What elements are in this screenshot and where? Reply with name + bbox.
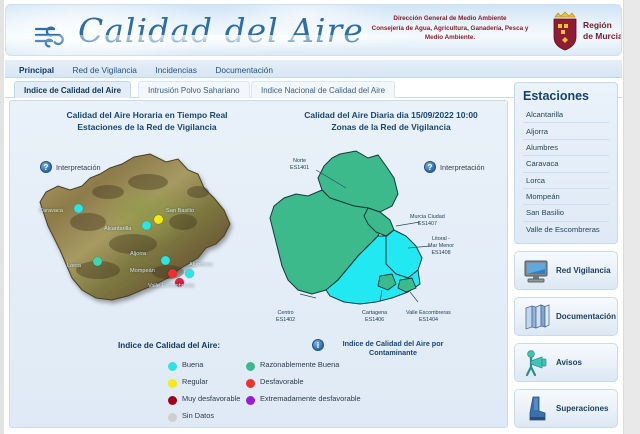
sidebar: Estaciones Alcantarilla Aljorra Alumbres…	[514, 82, 618, 428]
sidebar-button-red-vigilancia[interactable]: Red Vigilancia	[514, 251, 618, 290]
zone-label-litoral-line-2: Mar Menor	[428, 243, 454, 249]
legend-label-razonablemente-buena: Razonablemente Buena	[260, 361, 339, 370]
tab-indice-calidad-aire[interactable]: Indice de Calidad del Aire	[14, 81, 131, 98]
info-icon: i	[312, 339, 324, 351]
sidebar-button-label-superaciones: Superaciones	[556, 404, 608, 414]
sidebar-button-label-avisos: Avisos	[556, 358, 582, 368]
legend-swatch-regular	[168, 379, 177, 388]
zone-label-valle-name: Valle Escombreras	[406, 310, 451, 316]
station-dot-caravaca[interactable]	[74, 204, 83, 213]
murcia-coat-of-arms-icon	[549, 11, 581, 52]
sidebar-item-mompean[interactable]: Mompeán	[523, 189, 609, 205]
region-crest-line-2: de Murcia	[583, 31, 622, 42]
legend-label-desfavorable: Desfavorable	[260, 378, 304, 387]
nav-item-red-de-vigilancia[interactable]: Red de Vigilancia	[73, 60, 137, 75]
legend-item-buena: Buena	[168, 361, 246, 371]
zone-label-litoral-code: ES1408	[431, 250, 450, 256]
murcia-zones-map[interactable]: Norte ES1401 Murcia Ciudad ES1407 Litora…	[268, 150, 483, 330]
station-label-valle-escombreras: Valle Escombreras	[148, 283, 195, 289]
station-dot-lorca[interactable]	[93, 257, 102, 266]
tab-intrusion-polvo-sahariano[interactable]: Intrusión Polvo Sahariano	[138, 81, 250, 98]
sidebar-item-valle-de-escombreras[interactable]: Valle de Escombreras	[523, 222, 609, 237]
zone-label-cartagena: Cartagena ES1406	[362, 310, 387, 324]
terrain-map-shape	[38, 152, 268, 327]
left-map-title: Calidad del Aire Horaria en Tiempo Real …	[22, 109, 272, 133]
station-dot-alumbres[interactable]	[185, 269, 194, 278]
zone-label-valle-escombreras: Valle Escombreras ES1404	[406, 310, 451, 324]
legend-swatch-buena	[168, 362, 177, 371]
sidebar-button-label-documentacion: Documentación	[556, 312, 616, 322]
legend-label-regular: Regular	[182, 378, 208, 387]
zone-label-centro-code: ES1402	[276, 317, 295, 323]
zone-label-murcia-code: ES1407	[418, 221, 437, 227]
region-crest-text: Región de Murcia	[583, 20, 622, 42]
sidebar-button-documentacion[interactable]: Documentación	[514, 297, 618, 336]
zone-label-centro-name: Centro	[278, 310, 294, 316]
station-label-alumbres: Alumbres	[189, 262, 213, 268]
legend-swatch-razonablemente-buena	[246, 362, 255, 371]
department-line-1: Dirección General de Medio Ambiente	[362, 14, 538, 24]
right-map-title-line-2: Zonas de la Red de Vigilancia	[276, 121, 506, 133]
department-line-2: Consejería de Agua, Agricultura, Ganader…	[362, 24, 538, 34]
sidebar-button-superaciones[interactable]: Superaciones	[514, 389, 618, 428]
left-map-title-line-2: Estaciones de la Red de Vigilancia	[22, 121, 272, 133]
monitor-icon	[518, 255, 556, 287]
right-map-title-line-1: Calidad del Aire Diaria dia 15/09/2022 1…	[276, 109, 506, 121]
legend-item-regular: Regular	[168, 378, 246, 388]
legend-swatch-muy-desfavorable	[168, 396, 177, 405]
page-title: Calidad del Aire	[78, 11, 364, 50]
zone-label-litoral-mar-menor: Litoral - Mar Menor ES1408	[428, 236, 454, 257]
legend-item-desfavorable: Desfavorable	[246, 378, 406, 388]
murcia-terrain-station-map[interactable]: Caravaca Alcantarilla San Basilio Lorca …	[38, 152, 268, 327]
legend-label-sin-datos: Sin Datos	[182, 412, 214, 421]
main-navigation[interactable]: Principal Red de Vigilancia Incidencias …	[5, 60, 622, 78]
zone-label-litoral-line-1: Litoral -	[432, 236, 450, 242]
wind-icon	[32, 19, 74, 51]
station-dot-san-basilio[interactable]	[154, 215, 163, 224]
zone-label-centro: Centro ES1402	[276, 310, 295, 324]
sidebar-button-avisos[interactable]: Avisos	[514, 343, 618, 382]
sidebar-stations-heading: Estaciones	[523, 89, 609, 103]
zone-label-cartagena-name: Cartagena	[362, 310, 387, 316]
zone-label-murcia-ciudad: Murcia Ciudad ES1407	[410, 214, 445, 228]
zone-label-valle-code: ES1404	[419, 317, 438, 323]
books-icon	[518, 301, 556, 333]
nav-item-incidencias[interactable]: Incidencias	[155, 60, 197, 75]
station-dot-aljorra[interactable]	[161, 256, 170, 265]
station-label-san-basilio: San Basilio	[166, 208, 194, 214]
air-quality-page: Calidad del Aire Dirección General de Me…	[0, 0, 640, 434]
page-left-gutter	[0, 0, 4, 434]
right-map-title: Calidad del Aire Diaria dia 15/09/2022 1…	[276, 109, 506, 133]
station-label-mompean: Mompeán	[130, 268, 155, 274]
station-label-aljorra: Aljorra	[130, 251, 146, 257]
zone-label-norte: Norte ES1401	[290, 158, 309, 172]
station-dot-mompean[interactable]	[168, 269, 177, 278]
station-label-caravaca: Caravaca	[39, 208, 63, 214]
legend-label-extremadamente-desfavorable: Extremadamente desfavorable	[260, 395, 361, 404]
legend-swatch-desfavorable	[246, 379, 255, 388]
boot-icon	[518, 393, 556, 425]
region-crest-line-1: Región	[583, 20, 622, 31]
sidebar-button-label-red-vigilancia: Red Vigilancia	[556, 266, 611, 276]
page-right-gutter	[623, 0, 640, 434]
zone-label-norte-name: Norte	[293, 158, 306, 164]
legend-item-extremadamente-desfavorable: Extremadamente desfavorable	[246, 395, 406, 405]
sidebar-item-san-basilio[interactable]: San Basilio	[523, 205, 609, 221]
legend-label-muy-desfavorable: Muy desfavorable	[182, 395, 240, 404]
legend-item-sin-datos: Sin Datos	[168, 412, 246, 422]
indice-por-contaminante-label: Indice de Calidad del Aire por Contamina…	[328, 339, 458, 357]
sidebar-item-alumbres[interactable]: Alumbres	[523, 140, 609, 156]
zone-label-murcia-name: Murcia Ciudad	[410, 214, 445, 220]
legend-swatch-extremadamente-desfavorable	[246, 396, 255, 405]
zone-label-cartagena-code: ES1406	[365, 317, 384, 323]
station-label-lorca: Lorca	[67, 263, 81, 269]
region-crest: Región de Murcia	[549, 11, 621, 52]
sidebar-item-aljorra[interactable]: Aljorra	[523, 123, 609, 139]
air-quality-legend: Buena Razonablemente Buena Regular Desfa…	[168, 361, 418, 422]
megaphone-person-icon	[518, 347, 556, 379]
sidebar-stations-card: Estaciones Alcantarilla Aljorra Alumbres…	[514, 82, 618, 244]
legend-title: Indice de Calidad del Aire:	[118, 341, 220, 350]
department-line-3: Medio Ambiente.	[362, 33, 538, 43]
left-map-title-line-1: Calidad del Aire Horaria en Tiempo Real	[22, 109, 272, 121]
legend-label-buena: Buena	[182, 361, 203, 370]
sidebar-item-caravaca[interactable]: Caravaca	[523, 156, 609, 172]
sidebar-item-alcantarilla[interactable]: Alcantarilla	[523, 107, 609, 123]
tab-indice-nacional-calidad-aire[interactable]: Indice Nacional de Calidad del Aire	[251, 81, 395, 98]
legend-item-razonablemente-buena: Razonablemente Buena	[246, 361, 406, 371]
sidebar-item-lorca[interactable]: Lorca	[523, 173, 609, 189]
legend-swatch-sin-datos	[168, 413, 177, 422]
legend-item-muy-desfavorable: Muy desfavorable	[168, 395, 246, 405]
zone-label-norte-code: ES1401	[290, 165, 309, 171]
station-dot-alcantarilla[interactable]	[142, 221, 151, 230]
department-block: Dirección General de Medio Ambiente Cons…	[362, 14, 538, 43]
site-header: Calidad del Aire Dirección General de Me…	[5, 4, 622, 56]
nav-item-principal[interactable]: Principal	[19, 60, 54, 75]
nav-item-documentacion[interactable]: Documentación	[215, 60, 273, 75]
station-label-alcantarilla: Alcantarilla	[104, 226, 131, 232]
indice-por-contaminante-link[interactable]: i Indice de Calidad del Aire por Contami…	[312, 339, 458, 357]
